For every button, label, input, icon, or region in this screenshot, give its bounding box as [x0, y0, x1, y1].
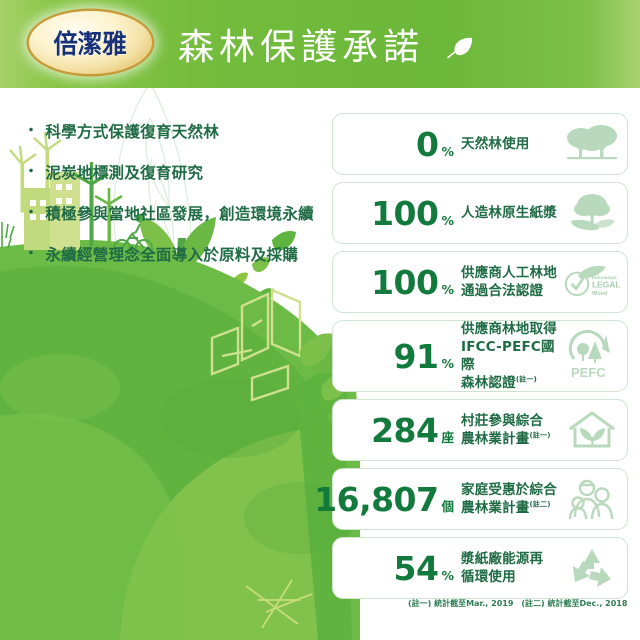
stat-label: 家庭受惠於綜合 農林業計畫(註二): [461, 481, 563, 517]
stat-label-line1: 天然林使用: [461, 135, 563, 153]
bullet-marker: ・: [24, 122, 38, 141]
stat-label-line2: 通過合法認證: [461, 282, 563, 300]
stat-value: 16,807: [314, 483, 438, 516]
stat-card-natural-forest-use: 0 % 天然林使用: [332, 113, 628, 175]
stat-value: 91: [394, 340, 439, 373]
stat-label-line1: 供應商林地取得: [461, 320, 563, 338]
bullet-text: 科學方式保護復育天然林: [45, 122, 219, 142]
list-item: ・ 永續經營理念全面導入於原料及採購: [24, 245, 324, 265]
indonesian-legal-wood-logo: Indonesian LEGAL Wood: [563, 252, 627, 312]
stat-value-group: 284 座: [333, 414, 461, 447]
hill-landscape: [0, 240, 360, 640]
stat-unit: %: [441, 568, 454, 583]
brand-logo-text: 倍潔雅: [54, 24, 127, 61]
stat-unit: %: [441, 213, 454, 228]
stat-card-energy-recycling: 54 % 漿紙廠能源再 循環使用: [332, 537, 628, 599]
stat-unit: %: [441, 356, 454, 371]
two-trees-icon: [563, 114, 627, 174]
stat-unit: %: [441, 282, 454, 297]
svg-text:LEGAL: LEGAL: [592, 280, 621, 290]
recycle-icon: [563, 538, 627, 598]
stat-label: 供應商林地取得 IFCC-PEFC國際 森林認證(註一): [461, 320, 563, 393]
list-item: ・ 科學方式保護復育天然林: [24, 122, 324, 142]
stat-value-group: 16,807 個: [333, 483, 461, 516]
commitment-bullet-list: ・ 科學方式保護復育天然林 ・ 泥炭地標測及復育研究 ・ 積極參與當地社區發展，…: [24, 122, 324, 287]
stat-label: 漿紙廠能源再 循環使用: [461, 550, 563, 586]
dragonfly-icon: [246, 580, 312, 628]
stat-value: 100: [371, 197, 438, 230]
bullet-text: 泥炭地標測及復育研究: [45, 163, 203, 183]
list-item: ・ 泥炭地標測及復育研究: [24, 163, 324, 183]
bullet-text: 永續經營理念全面導入於原料及採購: [45, 245, 298, 265]
bullet-marker: ・: [24, 204, 38, 223]
house-leaf-icon: [563, 400, 627, 460]
stat-label-line2-text: 農林業計畫: [461, 431, 530, 447]
stat-label-line1: 家庭受惠於綜合: [461, 481, 563, 499]
large-leaf-right: [184, 388, 286, 433]
stat-value-group: 100 %: [333, 197, 461, 230]
stat-label-line1: 漿紙廠能源再: [461, 550, 563, 568]
stat-label-line1: 人造林原生紙漿: [461, 204, 563, 222]
eco-structures: [212, 290, 300, 400]
stat-card-pefc-certification: 91 % 供應商林地取得 IFCC-PEFC國際 森林認證(註一): [332, 320, 628, 392]
stat-label-line3-text: 森林認證: [461, 375, 516, 391]
stat-value: 54: [394, 552, 439, 585]
svg-text:Wood: Wood: [592, 291, 608, 297]
bullet-text: 積極參與當地社區發展，創造環境永續: [45, 204, 314, 224]
stat-label: 人造林原生紙漿: [461, 204, 563, 222]
pefc-logo-text: PEFC: [571, 365, 606, 380]
stat-label: 天然林使用: [461, 135, 563, 153]
stat-card-plantation-pulp: 100 % 人造林原生紙漿: [332, 182, 628, 244]
stat-label-line1: 村莊參與綜合: [461, 412, 563, 430]
stat-unit: 座: [441, 427, 454, 446]
header-banner: 倍潔雅 森林保護承諾: [0, 0, 640, 88]
brand-logo: 倍潔雅: [29, 11, 152, 74]
stat-footnote-ref: (註一): [516, 376, 537, 384]
stat-value-group: 0 %: [333, 128, 461, 161]
stat-label-line2: 農林業計畫(註一): [461, 430, 563, 448]
stat-unit: 個: [441, 496, 454, 515]
stat-footnote-ref: (註二): [530, 501, 551, 509]
stat-label-line2: IFCC-PEFC國際: [461, 338, 563, 374]
tree-on-hand-icon: [563, 183, 627, 243]
stat-value-group: 91 %: [333, 340, 461, 373]
stat-value: 100: [371, 266, 438, 299]
page-title: 森林保護承諾: [178, 18, 424, 70]
stat-card-legal-certification: 100 % 供應商人工林地 通過合法認證 Indonesian LEGAL: [332, 251, 628, 313]
stat-label-line2: 農林業計畫(註二): [461, 499, 563, 517]
stat-value: 0: [416, 128, 438, 161]
stat-label-line2-text: 農林業計畫: [461, 500, 530, 516]
stat-label: 供應商人工林地 通過合法認證: [461, 264, 563, 300]
stat-value-group: 100 %: [333, 266, 461, 299]
bullet-marker: ・: [24, 163, 38, 182]
stat-card-villages: 284 座 村莊參與綜合 農林業計畫(註一): [332, 399, 628, 461]
infographic-page: 倍潔雅 森林保護承諾: [0, 0, 640, 640]
family-icon: [563, 469, 627, 529]
stat-card-list: 0 % 天然林使用: [332, 113, 628, 606]
list-item: ・ 積極參與當地社區發展，創造環境永續: [24, 204, 324, 224]
stat-label-line2: 循環使用: [461, 568, 563, 586]
footnote-text: (註一) 統計截至Mar., 2019 (註二) 統計截至Dec., 2018: [408, 598, 634, 609]
stat-label-line3: 森林認證(註一): [461, 374, 563, 392]
grass-tufts: [0, 222, 14, 248]
stat-value-group: 54 %: [333, 552, 461, 585]
stat-label-line1: 供應商人工林地: [461, 264, 563, 282]
leaf-icon: [446, 36, 474, 60]
bullet-marker: ・: [24, 245, 38, 264]
stat-card-households: 16,807 個 家庭受惠於綜合 農林業計畫(註二): [332, 468, 628, 530]
stat-footnote-ref: (註一): [530, 432, 551, 440]
stat-label: 村莊參與綜合 農林業計畫(註一): [461, 412, 563, 448]
large-leaf-left: [66, 390, 162, 433]
cloud-icon: [78, 295, 113, 310]
pefc-logo: PEFC: [563, 321, 627, 391]
stat-unit: %: [441, 144, 454, 159]
stat-value: 284: [371, 414, 438, 447]
